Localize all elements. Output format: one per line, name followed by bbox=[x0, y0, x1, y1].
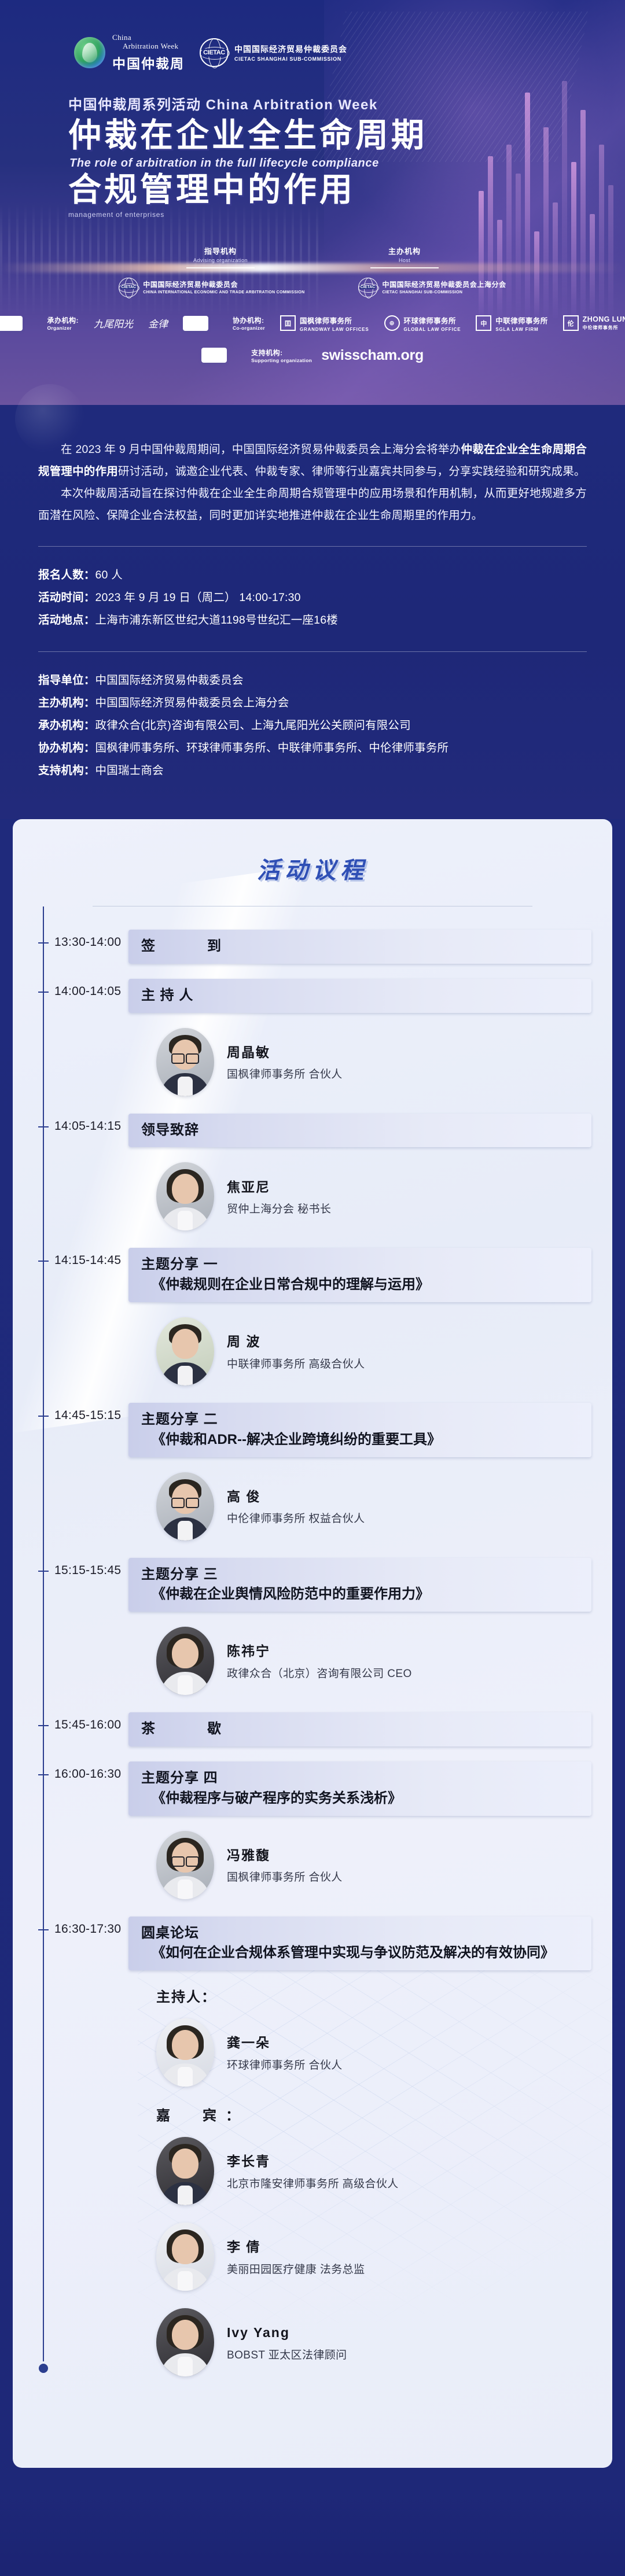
agenda-row[interactable]: 15:15-15:45主题分享 三《仲裁在企业舆情风险防范中的重要作用力》 bbox=[13, 1558, 612, 1612]
tag-bar-decor bbox=[0, 316, 23, 331]
sgla-name-en: SGLA LAW FIRM bbox=[495, 327, 547, 332]
hero-headline: 中国仲裁周系列活动 China Arbitration Week 仲裁在企业全生… bbox=[0, 72, 625, 219]
hero-banner: China Arbitration Week 中国仲裁周 CIETAC 中国国际… bbox=[0, 0, 625, 405]
agenda-time: 15:45-16:00 bbox=[13, 1712, 128, 1732]
global-law-name-cn: 环球律师事务所 bbox=[404, 315, 461, 326]
speaker-info: 焦亚尼贸仲上海分会 秘书长 bbox=[227, 1177, 331, 1217]
avatar-collar-decor bbox=[178, 1211, 193, 1230]
globe-icon bbox=[74, 37, 105, 68]
intro-p1-suffix: 研讨活动，诚邀企业代表、仲裁专家、律师等行业嘉宾共同参与，分享实践经验和研究成果… bbox=[118, 465, 586, 478]
sgla-name-cn: 中联律师事务所 bbox=[495, 315, 547, 326]
organizer-label-cn: 承办机构: bbox=[47, 315, 79, 325]
caw-logo-en-line2: Arbitration Week bbox=[112, 42, 185, 51]
agenda-row[interactable]: 14:00-14:05主 持 人 bbox=[13, 979, 612, 1013]
agenda-time: 14:45-15:15 bbox=[13, 1403, 128, 1422]
avatar-face-decor bbox=[172, 2030, 198, 2060]
agenda-item-label: 主题分享 三 bbox=[141, 1565, 579, 1585]
organizer-tag: 承办机构: Organizer bbox=[0, 315, 79, 331]
agenda-row[interactable]: 16:00-16:30主题分享 四《仲裁程序与破产程序的实务关系浅析》 bbox=[13, 1761, 612, 1816]
supporting-tag: 支持机构: Supporting organization bbox=[201, 348, 312, 363]
speaker-info: 龚一朵环球律师事务所 合伙人 bbox=[227, 2033, 343, 2072]
advising-label-en: Advising organization bbox=[186, 257, 255, 263]
event-detail-row: 活动地点：上海市浦东新区世纪大道1198号世纪汇一座16楼 bbox=[38, 609, 587, 632]
caw-logo-cn: 中国仲裁周 bbox=[112, 53, 185, 72]
org-label-host: 主办机构： bbox=[38, 696, 95, 709]
hero-title-line1: 仲裁在企业全生命周期 bbox=[68, 118, 625, 154]
avatar bbox=[156, 2018, 214, 2087]
org-label-organizer: 承办机构： bbox=[38, 719, 95, 732]
jinlv-logo: 金律 bbox=[148, 316, 168, 330]
timeline-tick-decor bbox=[38, 992, 49, 993]
org-value-advising: 中国国际经济贸易仲裁委员会 bbox=[95, 674, 244, 687]
agenda-row[interactable]: 14:15-14:45主题分享 一《仲裁规则在企业日常合规中的理解与运用》 bbox=[13, 1248, 612, 1302]
agenda-item-bar[interactable]: 主题分享 三《仲裁在企业舆情风险防范中的重要作用力》 bbox=[128, 1558, 591, 1612]
supporting-label-en: Supporting organization bbox=[251, 358, 312, 363]
glasses-icon bbox=[171, 1856, 199, 1864]
hero-subtitle-en: The role of arbitration in the full life… bbox=[69, 157, 625, 170]
agenda-title: 活动议程 bbox=[13, 852, 612, 885]
agenda-item-label: 茶 歇 bbox=[141, 1719, 579, 1740]
agenda-row[interactable]: 15:45-16:00茶 歇 bbox=[13, 1712, 612, 1746]
speaker-name: 李 倩 bbox=[227, 2237, 365, 2257]
jiuwei-yangguang-logo: 九尾阳光 bbox=[94, 316, 133, 330]
host-label-cn: 主办机构 bbox=[370, 245, 439, 256]
speaker-title: 国枫律师事务所 合伙人 bbox=[227, 1869, 343, 1884]
wireframe-globe-icon: CIETAC bbox=[358, 278, 378, 297]
org-row: 主办机构：中国国际经济贸易仲裁委员会上海分会 bbox=[38, 692, 587, 714]
agenda-time: 13:30-14:00 bbox=[13, 930, 128, 949]
speaker-card: 高 俊中伦律师事务所 权益合伙人 bbox=[156, 1472, 612, 1541]
firm-mark-icon: 伦 bbox=[563, 315, 579, 331]
timeline-end-dot-decor bbox=[39, 2364, 48, 2373]
host-org-name-cn: 中国国际经济贸易仲裁委员会上海分会 bbox=[383, 279, 506, 289]
cietac-logo-en: CIETAC SHANGHAI SUB-COMMISSION bbox=[234, 56, 347, 62]
speaker-card: 龚一朵环球律师事务所 合伙人 bbox=[156, 2018, 612, 2087]
org-row: 协办机构：国枫律师事务所、环球律师事务所、中联律师事务所、中伦律师事务所 bbox=[38, 737, 587, 760]
avatar-collar-decor bbox=[178, 1521, 193, 1541]
avatar-face-decor bbox=[172, 1329, 198, 1359]
speaker-card: 李长青北京市隆安律师事务所 高级合伙人 bbox=[156, 2137, 612, 2205]
timeline-tick-decor bbox=[38, 1571, 49, 1572]
top-logo-row: China Arbitration Week 中国仲裁周 CIETAC 中国国际… bbox=[0, 0, 625, 72]
divider bbox=[38, 546, 587, 547]
agenda-item-subtitle: 《仲裁在企业舆情风险防范中的重要作用力》 bbox=[141, 1584, 579, 1605]
divider bbox=[38, 651, 587, 652]
agenda-item-bar[interactable]: 茶 歇 bbox=[128, 1712, 591, 1746]
cietac-abbr: CIETAC bbox=[202, 49, 226, 57]
caw-logo-en-line1: China bbox=[112, 33, 131, 42]
avatar-collar-decor bbox=[178, 2186, 193, 2205]
speaker-name: 李长青 bbox=[227, 2151, 399, 2172]
agenda-time: 16:30-17:30 bbox=[13, 1917, 128, 1936]
poster-footer bbox=[0, 2491, 625, 2576]
avatar-collar-decor bbox=[178, 1880, 193, 1899]
coorganizer-label-en: Co-organizer bbox=[233, 325, 265, 331]
coorganizer-tag: 协办机构: Co-organizer bbox=[183, 315, 265, 331]
agenda-row[interactable]: 14:45-15:15主题分享 二《仲裁和ADR--解决企业跨境纠纷的重要工具》 bbox=[13, 1403, 612, 1457]
intro-section: 在 2023 年 9 月中国仲裁周期间，中国国际经济贸易仲裁委员会上海分会将举办… bbox=[0, 405, 625, 819]
agenda-item-bar[interactable]: 圆桌论坛《如何在企业合规体系管理中实现与争议防范及解决的有效协同》 bbox=[128, 1917, 591, 1971]
speaker-name: 陈祎宁 bbox=[227, 1641, 412, 1661]
zhonglun-law-logo: 伦 ZHONG LUN 中伦律师事务所 bbox=[563, 315, 625, 331]
event-detail-row: 报名人数：60 人 bbox=[38, 564, 587, 587]
glasses-icon bbox=[171, 1498, 199, 1506]
agenda-item-bar[interactable]: 主题分享 一《仲裁规则在企业日常合规中的理解与运用》 bbox=[128, 1248, 591, 1302]
speaker-name: 高 俊 bbox=[227, 1487, 365, 1507]
avatar-collar-decor bbox=[178, 2067, 193, 2087]
avatar-collar-decor bbox=[178, 2271, 193, 2291]
advising-org-name-en: CHINA INTERNATIONAL ECONOMIC AND TRADE A… bbox=[143, 290, 304, 296]
timeline-tick-decor bbox=[38, 942, 49, 944]
speaker-card: Ivy YangBOBST 亚太区法律顾问 bbox=[156, 2308, 612, 2376]
intro-paragraph-2: 本次仲裁周活动旨在探讨仲裁在企业全生命周期合规管理中的应用场景和作用机制，从而更… bbox=[38, 482, 587, 526]
credit-headers: 指导机构 Advising organization 主办机构 Host bbox=[35, 245, 590, 268]
speaker-name: 冯雅馥 bbox=[227, 1845, 343, 1866]
speaker-title: 政律众合（北京）咨询有限公司 CEO bbox=[227, 1665, 412, 1681]
agenda-row[interactable]: 13:30-14:00签 到 bbox=[13, 930, 612, 964]
speaker-info: 李长青北京市隆安律师事务所 高级合伙人 bbox=[227, 2151, 399, 2191]
firm-mark-icon: 中 bbox=[476, 315, 491, 331]
divider bbox=[370, 267, 439, 268]
guest-label: 嘉 宾： bbox=[156, 2104, 612, 2124]
org-value-organizer: 政律众合(北京)咨询有限公司、上海九尾阳光公关顾问有限公司 bbox=[95, 719, 411, 732]
moderator-label: 主持人： bbox=[156, 1985, 612, 2006]
agenda-item-label: 主 持 人 bbox=[141, 986, 579, 1006]
speaker-info: 陈祎宁政律众合（北京）咨询有限公司 CEO bbox=[227, 1641, 412, 1681]
org-row: 支持机构：中国瑞士商会 bbox=[38, 760, 587, 782]
detail-label-time: 活动时间： bbox=[38, 591, 95, 604]
hero-subtitle-en2: management of enterprises bbox=[68, 211, 625, 219]
org-row: 指导单位：中国国际经济贸易仲裁委员会 bbox=[38, 669, 587, 692]
watermark-decor bbox=[15, 384, 84, 454]
org-value-supporting: 中国瑞士商会 bbox=[95, 764, 164, 777]
timeline-tick-decor bbox=[38, 1774, 49, 1775]
credits-block: 指导机构 Advising organization 主办机构 Host CIE… bbox=[0, 245, 625, 364]
speaker-title: 美丽田园医疗健康 法务总监 bbox=[227, 2261, 365, 2276]
avatar bbox=[156, 1627, 214, 1695]
avatar-face-decor bbox=[172, 2148, 198, 2179]
avatar bbox=[156, 1317, 214, 1385]
grandway-name-cn: 国枫律师事务所 bbox=[300, 315, 369, 326]
zhonglun-name-en: ZHONG LUN bbox=[583, 315, 625, 323]
agenda-section: 活动议程 13:30-14:00签 到14:00-14:05主 持 人周晶敏国枫… bbox=[0, 819, 625, 2491]
avatar-face-decor bbox=[172, 1638, 198, 1668]
timeline-tick-decor bbox=[38, 1416, 49, 1417]
avatar bbox=[156, 2223, 214, 2291]
agenda-time: 16:00-16:30 bbox=[13, 1761, 128, 1781]
intro-paragraph-1: 在 2023 年 9 月中国仲裁周期间，中国国际经济贸易仲裁委员会上海分会将举办… bbox=[38, 438, 587, 482]
agenda-item-bar[interactable]: 签 到 bbox=[128, 930, 591, 964]
agenda-item-subtitle: 《仲裁程序与破产程序的实务关系浅析》 bbox=[141, 1789, 579, 1809]
agenda-item-label: 主题分享 四 bbox=[141, 1768, 579, 1789]
agenda-time: 14:05-14:15 bbox=[13, 1114, 128, 1133]
org-value-coorganizer: 国枫律师事务所、环球律师事务所、中联律师事务所、中伦律师事务所 bbox=[95, 742, 449, 754]
speaker-card: 焦亚尼贸仲上海分会 秘书长 bbox=[156, 1162, 612, 1230]
speaker-name: 周 波 bbox=[227, 1332, 365, 1352]
supporting-row: 支持机构: Supporting organization swisscham.… bbox=[35, 347, 590, 364]
speaker-title: 贸仲上海分会 秘书长 bbox=[227, 1200, 331, 1216]
agenda-item-bar[interactable]: 主题分享 四《仲裁程序与破产程序的实务关系浅析》 bbox=[128, 1761, 591, 1816]
swisscham-logo[interactable]: swisscham.org bbox=[321, 347, 424, 364]
avatar-collar-decor bbox=[178, 1077, 193, 1096]
advising-org-name-cn: 中国国际经济贸易仲裁委员会 bbox=[143, 279, 304, 289]
agenda-item-label: 签 到 bbox=[141, 937, 579, 957]
agenda-row[interactable]: 14:05-14:15领导致辞 bbox=[13, 1114, 612, 1148]
grandway-name-en: GRANDWAY LAW OFFICES bbox=[300, 327, 369, 332]
speaker-card: 周晶敏国枫律师事务所 合伙人 bbox=[156, 1028, 612, 1096]
speaker-info: 冯雅馥国枫律师事务所 合伙人 bbox=[227, 1845, 343, 1885]
avatar bbox=[156, 1831, 214, 1899]
agenda-timeline: 13:30-14:00签 到14:00-14:05主 持 人周晶敏国枫律师事务所… bbox=[13, 906, 612, 2376]
cietac-abbr: CIETAC bbox=[360, 285, 376, 289]
china-arbitration-week-logo: China Arbitration Week 中国仲裁周 bbox=[74, 34, 185, 72]
org-label-coorganizer: 协办机构： bbox=[38, 742, 95, 754]
speaker-info: 李 倩美丽田园医疗健康 法务总监 bbox=[227, 2237, 365, 2276]
agenda-row[interactable]: 16:30-17:30圆桌论坛《如何在企业合规体系管理中实现与争议防范及解决的有… bbox=[13, 1917, 612, 1971]
avatar-collar-decor bbox=[178, 1675, 193, 1695]
speaker-name: 周晶敏 bbox=[227, 1042, 343, 1063]
timeline-tick-decor bbox=[38, 1725, 49, 1726]
partner-logos-row: 承办机构: Organizer 九尾阳光 金律 协办机构: Co-organiz… bbox=[35, 315, 590, 332]
speaker-info: 周晶敏国枫律师事务所 合伙人 bbox=[227, 1042, 343, 1082]
hero-kicker: 中国仲裁周系列活动 China Arbitration Week bbox=[68, 93, 625, 113]
speaker-info: 周 波中联律师事务所 高级合伙人 bbox=[227, 1332, 365, 1371]
timeline-tick-decor bbox=[38, 1261, 49, 1262]
speaker-title: 中联律师事务所 高级合伙人 bbox=[227, 1355, 365, 1371]
avatar bbox=[156, 1162, 214, 1230]
intro-p1-prefix: 在 2023 年 9 月中国仲裁周期间，中国国际经济贸易仲裁委员会上海分会将举办 bbox=[61, 443, 461, 456]
hero-title-line2: 合规管理中的作用 bbox=[68, 172, 625, 208]
agenda-item-subtitle: 《仲裁和ADR--解决企业跨境纠纷的重要工具》 bbox=[141, 1430, 579, 1450]
speaker-title: 北京市隆安律师事务所 高级合伙人 bbox=[227, 2175, 399, 2191]
firm-mark-icon: 囯 bbox=[280, 315, 296, 331]
avatar-face-decor bbox=[172, 2234, 198, 2264]
detail-value-venue: 上海市浦东新区世纪大道1198号世纪汇一座16楼 bbox=[95, 614, 338, 627]
agenda-item-subtitle: 《如何在企业合规体系管理中实现与争议防范及解决的有效协同》 bbox=[141, 1943, 579, 1963]
avatar-face-decor bbox=[172, 2320, 198, 2350]
credit-logos-row: CIETAC 中国国际经济贸易仲裁委员会 CHINA INTERNATIONAL… bbox=[35, 278, 590, 297]
event-detail-row: 活动时间：2023 年 9 月 19 日（周二） 14:00-17:30 bbox=[38, 587, 587, 609]
detail-label-venue: 活动地点： bbox=[38, 614, 95, 627]
host-org-name-en: CIETAC SHANGHAI SUB-COMMISSION bbox=[383, 290, 506, 296]
org-label-advising: 指导单位： bbox=[38, 674, 95, 687]
wireframe-globe-icon: CIETAC bbox=[119, 278, 138, 297]
cietac-abbr: CIETAC bbox=[121, 285, 137, 289]
avatar bbox=[156, 1472, 214, 1541]
cietac-logo: CIETAC 中国国际经济贸易仲裁委员会 CIETAC SHANGHAI SUB… bbox=[200, 38, 347, 67]
tag-bar-decor bbox=[201, 348, 227, 363]
coorganizer-label-cn: 协办机构: bbox=[233, 315, 265, 325]
global-law-logo: ⊕ 环球律师事务所 GLOBAL LAW OFFICE bbox=[384, 315, 461, 332]
avatar-collar-decor bbox=[178, 2357, 193, 2376]
avatar-face-decor bbox=[172, 1174, 198, 1204]
agenda-time: 15:15-15:45 bbox=[13, 1558, 128, 1578]
detail-value-time: 2023 年 9 月 19 日（周二） 14:00-17:30 bbox=[95, 591, 301, 604]
agenda-item-label: 领导致辞 bbox=[141, 1121, 579, 1141]
avatar-collar-decor bbox=[178, 1366, 193, 1385]
agenda-item-label: 圆桌论坛 bbox=[141, 1923, 579, 1944]
speaker-card: 周 波中联律师事务所 高级合伙人 bbox=[156, 1317, 612, 1385]
speaker-name: 龚一朵 bbox=[227, 2033, 343, 2053]
agenda-item-bar[interactable]: 主题分享 二《仲裁和ADR--解决企业跨境纠纷的重要工具》 bbox=[128, 1403, 591, 1457]
speaker-title: 环球律师事务所 合伙人 bbox=[227, 2057, 343, 2072]
org-value-host: 中国国际经济贸易仲裁委员会上海分会 bbox=[95, 696, 289, 709]
global-law-name-en: GLOBAL LAW OFFICE bbox=[404, 327, 461, 332]
supporting-label-cn: 支持机构: bbox=[251, 348, 312, 358]
advising-organization-header: 指导机构 Advising organization bbox=[186, 245, 255, 268]
speaker-info: 高 俊中伦律师事务所 权益合伙人 bbox=[227, 1487, 365, 1526]
agenda-item-bar[interactable]: 领导致辞 bbox=[128, 1114, 591, 1148]
organizer-label-en: Organizer bbox=[47, 325, 79, 331]
host-organization-header: 主办机构 Host bbox=[370, 245, 439, 268]
agenda-card: 活动议程 13:30-14:00签 到14:00-14:05主 持 人周晶敏国枫… bbox=[13, 819, 612, 2468]
caw-logo-en: China Arbitration Week bbox=[112, 34, 185, 51]
org-row: 承办机构：政律众合(北京)咨询有限公司、上海九尾阳光公关顾问有限公司 bbox=[38, 714, 587, 737]
host-org-logo: CIETAC 中国国际经济贸易仲裁委员会上海分会 CIETAC SHANGHAI… bbox=[358, 278, 506, 297]
speaker-name: Ivy Yang bbox=[227, 2323, 347, 2343]
cietac-logo-cn: 中国国际经济贸易仲裁委员会 bbox=[234, 43, 347, 55]
agenda-item-label: 主题分享 二 bbox=[141, 1410, 579, 1430]
detail-value-attendees: 60 人 bbox=[95, 569, 123, 581]
agenda-time: 14:15-14:45 bbox=[13, 1248, 128, 1267]
wireframe-globe-icon: CIETAC bbox=[200, 38, 229, 67]
agenda-time: 14:00-14:05 bbox=[13, 979, 128, 998]
detail-label-attendees: 报名人数： bbox=[38, 569, 95, 581]
timeline-tick-decor bbox=[38, 1929, 49, 1930]
advising-org-logo: CIETAC 中国国际经济贸易仲裁委员会 CHINA INTERNATIONAL… bbox=[119, 278, 304, 297]
speaker-card: 陈祎宁政律众合（北京）咨询有限公司 CEO bbox=[156, 1627, 612, 1695]
speaker-title: 国枫律师事务所 合伙人 bbox=[227, 1066, 343, 1081]
speaker-info: Ivy YangBOBST 亚太区法律顾问 bbox=[227, 2323, 347, 2362]
tag-bar-decor bbox=[183, 316, 208, 331]
speaker-name: 焦亚尼 bbox=[227, 1177, 331, 1197]
host-label-en: Host bbox=[370, 257, 439, 263]
advising-label-cn: 指导机构 bbox=[186, 245, 255, 256]
zhonglun-name-cn: 中伦律师事务所 bbox=[583, 325, 625, 331]
agenda-item-bar[interactable]: 主 持 人 bbox=[128, 979, 591, 1013]
org-label-supporting: 支持机构： bbox=[38, 764, 95, 777]
timeline-tick-decor bbox=[38, 1126, 49, 1127]
speaker-card: 冯雅馥国枫律师事务所 合伙人 bbox=[156, 1831, 612, 1899]
firm-mark-icon: ⊕ bbox=[384, 315, 400, 331]
avatar bbox=[156, 2308, 214, 2376]
speaker-title: 中伦律师事务所 权益合伙人 bbox=[227, 1510, 365, 1525]
speaker-card: 李 倩美丽田园医疗健康 法务总监 bbox=[156, 2223, 612, 2291]
avatar bbox=[156, 2137, 214, 2205]
event-poster: China Arbitration Week 中国仲裁周 CIETAC 中国国际… bbox=[0, 0, 625, 2576]
speaker-title: BOBST 亚太区法律顾问 bbox=[227, 2346, 347, 2362]
agenda-item-label: 主题分享 一 bbox=[141, 1255, 579, 1275]
grandway-law-logo: 囯 国枫律师事务所 GRANDWAY LAW OFFICES bbox=[280, 315, 369, 332]
sgla-law-logo: 中 中联律师事务所 SGLA LAW FIRM bbox=[476, 315, 547, 332]
glasses-icon bbox=[171, 1053, 199, 1062]
avatar bbox=[156, 1028, 214, 1096]
divider bbox=[186, 267, 255, 268]
agenda-item-subtitle: 《仲裁规则在企业日常合规中的理解与运用》 bbox=[141, 1275, 579, 1295]
